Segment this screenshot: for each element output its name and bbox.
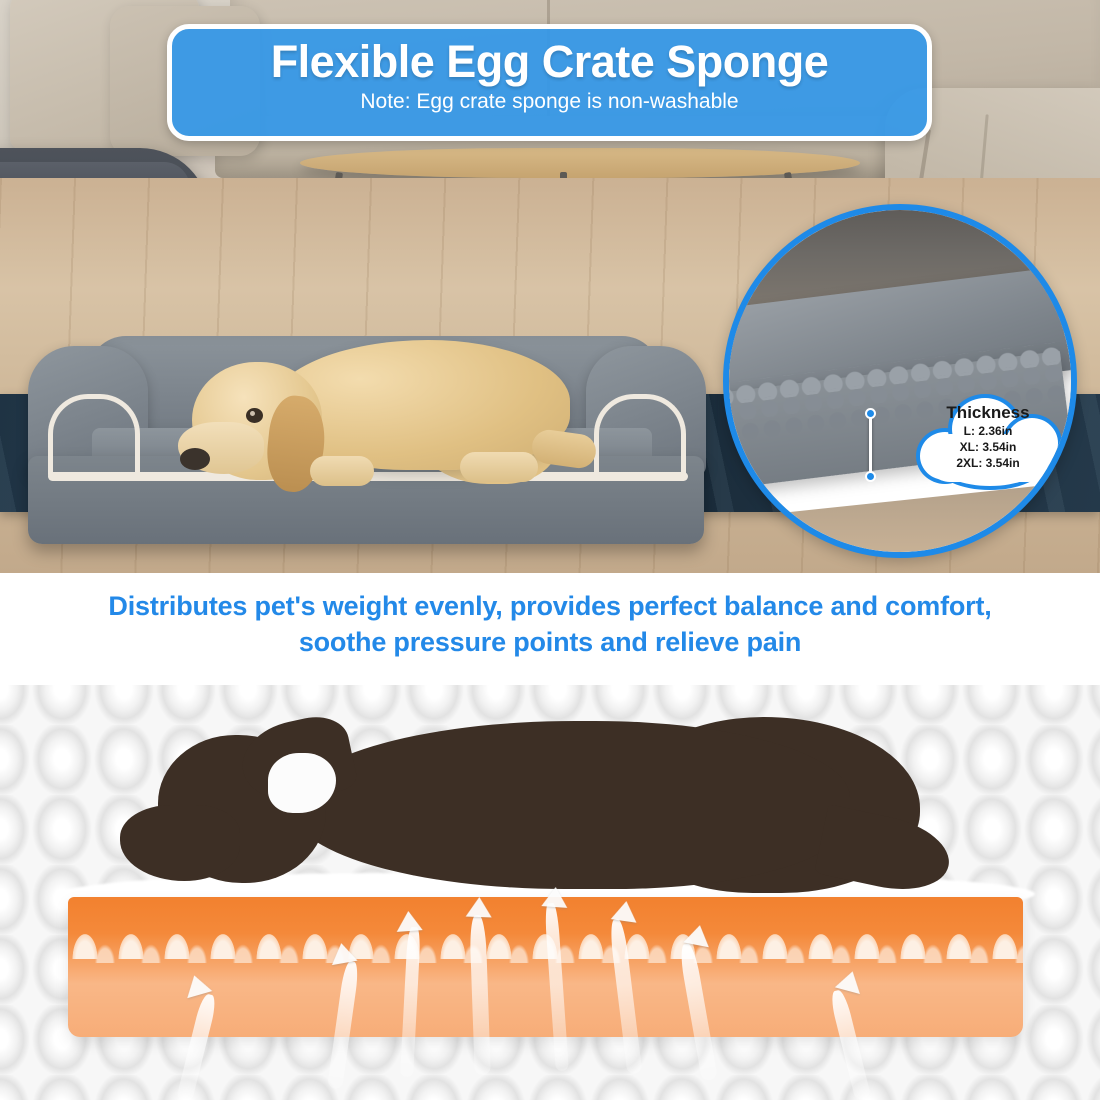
thickness-callout-cloud: Thickness L: 2.36in XL: 3.54in 2XL: 3.54… bbox=[912, 388, 1064, 494]
banner-note: Note: Egg crate sponge is non-washable bbox=[172, 90, 927, 114]
foam-closeup-inset: Thickness L: 2.36in XL: 3.54in 2XL: 3.54… bbox=[723, 204, 1077, 558]
caption-line-2: soothe pressure points and relieve pain bbox=[0, 625, 1100, 661]
coffee-table-top bbox=[300, 148, 860, 178]
measure-dot-top bbox=[865, 408, 876, 419]
bed-piping-right bbox=[594, 394, 686, 480]
thickness-title: Thickness bbox=[912, 404, 1064, 423]
cloud-text-group: Thickness L: 2.36in XL: 3.54in 2XL: 3.54… bbox=[912, 388, 1064, 494]
dog-paw bbox=[460, 452, 538, 482]
thickness-size-l: L: 2.36in bbox=[912, 423, 1064, 439]
thickness-size-2xl: 2XL: 3.54in bbox=[912, 455, 1064, 471]
caption-line-1: Distributes pet's weight evenly, provide… bbox=[0, 589, 1100, 625]
thickness-size-xl: XL: 3.54in bbox=[912, 439, 1064, 455]
dog-silhouette bbox=[120, 713, 910, 903]
bed-piping-left bbox=[48, 394, 140, 480]
banner-title: Flexible Egg Crate Sponge bbox=[172, 35, 927, 88]
golden-retriever-puppy bbox=[160, 336, 580, 536]
headline-banner: Flexible Egg Crate Sponge Note: Egg crat… bbox=[167, 24, 932, 141]
silhouette-snout bbox=[120, 805, 240, 881]
caption-block: Distributes pet's weight evenly, provide… bbox=[0, 573, 1100, 685]
dog-paw bbox=[310, 456, 374, 486]
measure-dot-bottom bbox=[865, 471, 876, 482]
product-infographic: Thickness L: 2.36in XL: 3.54in 2XL: 3.54… bbox=[0, 0, 1100, 1100]
dog-nose bbox=[180, 448, 210, 470]
pressure-relief-diagram bbox=[0, 685, 1100, 1100]
silhouette-body bbox=[290, 721, 850, 889]
dog-eye bbox=[246, 408, 263, 423]
lifestyle-photo: Thickness L: 2.36in XL: 3.54in 2XL: 3.54… bbox=[0, 0, 1100, 573]
thickness-measure-line bbox=[869, 414, 872, 476]
